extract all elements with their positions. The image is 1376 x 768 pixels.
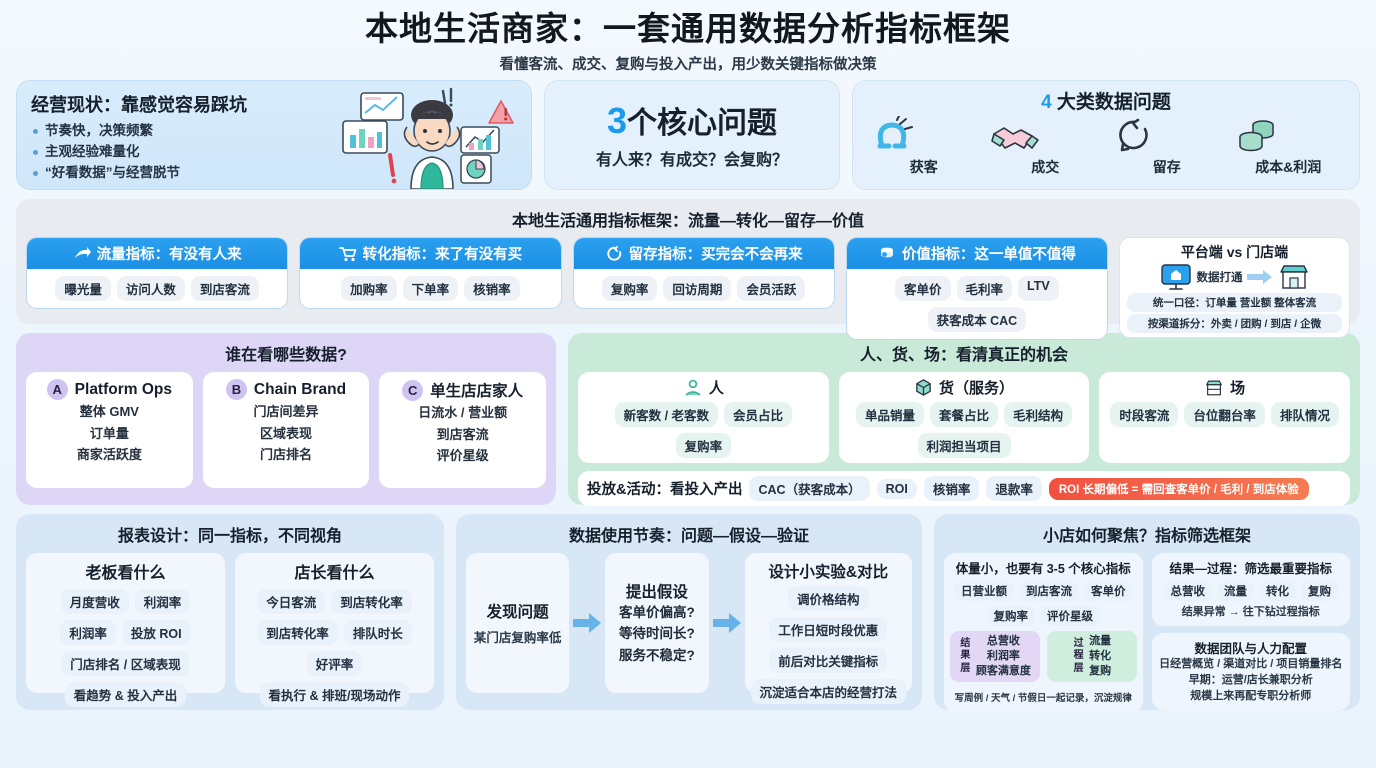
people-goods-place-title: 人、货、场：看清真正的机会	[578, 341, 1350, 365]
audience-metric: 评价星级	[383, 446, 542, 466]
metric-tag[interactable]: 利润担当项目	[918, 433, 1011, 458]
audience-metric: 区域表现	[207, 424, 366, 444]
layer-value: 流量	[1089, 634, 1111, 649]
metric-tag[interactable]: 复购率	[987, 606, 1036, 626]
layer-value: 顾客满意度	[976, 664, 1031, 679]
metric-tag[interactable]: 排队时长	[344, 620, 412, 645]
result-layer-box: 结果层 总营收 利润率 顾客满意度	[950, 631, 1040, 682]
focus-note: 写周例 / 天气 / 节假日一起记录，沉淀规律	[950, 687, 1137, 707]
layer-value: 利润率	[976, 649, 1031, 664]
audience-card-c: C 单生店店家人 日流水 / 营业额 到店客流 评价星级	[379, 372, 546, 488]
audience-name: Platform Ops	[75, 381, 172, 399]
audience-metric: 日流水 / 营业额	[383, 403, 542, 423]
metric-tag[interactable]: 核销率	[924, 476, 980, 501]
data-problems-number: 4	[1041, 92, 1052, 113]
framework-card-header: 转化指标：来了有没有买	[300, 238, 560, 269]
page-subtitle: 看懂客流、成交、复购与投入产出，用少数关键指标做决策	[16, 53, 1360, 74]
framework-card-header-text: 流量指标：有没有人来	[97, 243, 242, 264]
framework-card-header: 留存指标：买完会不会再来	[574, 238, 834, 269]
roi-alert-banner: ROI 长期偏低 = 需回查客单价 / 毛利 / 到店体验	[1049, 478, 1309, 500]
goods-card: 货（服务） 单品销量 套餐占比 毛利结构 利润担当项目	[839, 372, 1090, 463]
framework-card-header-text: 价值指标：这一单值不值得	[902, 243, 1076, 264]
rhythm-panel: 数据使用节奏：问题—假设—验证 发现问题 某门店复购率低 提出假设 客单价偏高?…	[456, 514, 922, 710]
metric-tag[interactable]: 毛利率	[957, 276, 1013, 301]
group-name: 货（服务）	[939, 377, 1014, 398]
metric-tag[interactable]: 下单率	[403, 276, 459, 301]
audience-card-b: B Chain Brand 门店间差异 区域表现 门店排名	[203, 372, 370, 488]
metric-tag[interactable]: CAC（获客成本）	[749, 476, 869, 501]
metric-tag[interactable]: 套餐占比	[930, 402, 998, 427]
core-questions-panel: 3个核心问题 有人来？有成交？会复购？	[544, 80, 840, 190]
result-layer-label: 结果层	[959, 638, 972, 676]
audience-metric: 订单量	[30, 424, 189, 444]
metric-tag[interactable]: 台位翻台率	[1184, 402, 1265, 427]
metric-tag[interactable]: 毛利结构	[1004, 402, 1072, 427]
rhythm-step-1: 发现问题 某门店复购率低	[466, 553, 569, 693]
audience-badge: A	[47, 379, 68, 400]
data-problem-item: 获客	[869, 116, 979, 177]
person-icon	[683, 379, 703, 397]
rhythm-title: 数据使用节奏：问题—假设—验证	[466, 522, 912, 546]
people-goods-place-panel: 人、货、场：看清真正的机会 人 新客数 / 老客数 会员占比 复购率	[568, 333, 1360, 505]
data-problem-label: 成交	[990, 157, 1100, 177]
platform-vs-store-title: 平台端 vs 门店端	[1127, 242, 1342, 262]
metric-tag[interactable]: 利润率	[60, 620, 116, 645]
people-card: 人 新客数 / 老客数 会员占比 复购率	[578, 372, 829, 463]
data-problem-label: 成本&利润	[1233, 157, 1343, 177]
metric-tag[interactable]: 到店客流	[1019, 581, 1079, 601]
audience-badge: C	[402, 380, 423, 401]
refresh-cycle-icon	[605, 246, 623, 262]
framework-panel: 本地生活通用指标框架：流量—转化—留存—价值 流量指标：有没有人来 曝光量 访问…	[16, 199, 1360, 324]
spend-row-label: 投放&活动：看投入产出	[587, 478, 742, 499]
status-panel: 经营现状：靠感觉容易踩坑 节奏快，决策频繁 主观经验难量化 “好看数据”与经营脱…	[16, 80, 532, 190]
metric-tag[interactable]: 会员活跃	[737, 276, 805, 301]
metric-tag[interactable]: 到店客流	[191, 276, 259, 301]
framework-card-header: 流量指标：有没有人来	[27, 238, 287, 269]
metric-tag[interactable]: 时段客流	[1110, 402, 1178, 427]
core-questions-title: 3个核心问题	[607, 101, 777, 141]
flow-arrow-icon	[713, 612, 741, 634]
framework-card-traffic: 流量指标：有没有人来 曝光量 访问人数 到店客流	[26, 237, 288, 309]
platform-vs-store-card: 平台端 vs 门店端 数据打通	[1119, 237, 1350, 338]
infographic-page: 本地生活商家：一套通用数据分析指标框架 看懂客流、成交、复购与投入产出，用少数关…	[0, 0, 1376, 768]
framework-card-header-text: 转化指标：来了有没有买	[363, 243, 523, 264]
metric-selection-note: 结果异常 → 往下钻过程指标	[1158, 605, 1345, 621]
framework-card-retention: 留存指标：买完会不会再来 复购率 回访周期 会员活跃	[573, 237, 835, 309]
channel-split-line: 按渠道拆分：外卖 / 团购 / 到店 / 企微	[1127, 314, 1342, 333]
rhythm-hypothesis: 客单价偏高?	[619, 602, 695, 624]
audience-metric: 到店客流	[383, 425, 542, 445]
focus-left-column: 体量小，也要有 3-5 个核心指标 日营业额 到店客流 客单价 复购率 评价星级…	[944, 553, 1143, 712]
storefront-icon	[1204, 378, 1224, 397]
metric-tag[interactable]: 到店转化率	[257, 620, 338, 645]
data-team-line: 规模上来再配专职分析师	[1158, 689, 1345, 705]
report-design-title: 报表设计：同一指标，不同视角	[26, 522, 434, 546]
manager-view-footer: 看执行 & 排班/现场动作	[260, 682, 410, 707]
core-questions-number: 3	[607, 100, 627, 141]
metric-tag[interactable]: 投放 ROI	[122, 620, 191, 645]
rhythm-step-name: 提出假设	[626, 580, 688, 602]
rhythm-hypothesis: 服务不稳定?	[619, 645, 695, 667]
stressed-merchant-illustration	[333, 85, 523, 189]
metric-tag[interactable]: 单品销量	[856, 402, 924, 427]
data-problems-title: 4 大类数据问题	[863, 87, 1349, 114]
metric-tag[interactable]: 利润率	[135, 589, 191, 614]
data-problems-title-rest: 大类数据问题	[1057, 92, 1171, 113]
data-problem-item: 成交	[990, 116, 1100, 177]
rhythm-step-2: 提出假设 客单价偏高? 等待时间长? 服务不稳定?	[605, 553, 708, 693]
metric-tag[interactable]: 到店转化率	[331, 589, 412, 614]
data-problem-label: 留存	[1112, 157, 1222, 177]
data-team-line: 早期：运营/店长兼职分析	[1158, 673, 1345, 689]
metric-tag[interactable]: 曝光量	[55, 276, 111, 301]
process-layer-label: 过程层	[1072, 638, 1085, 676]
layer-value: 总营收	[976, 634, 1031, 649]
coins-icon	[1233, 116, 1343, 156]
layer-value: 复购	[1089, 664, 1111, 679]
metric-tag[interactable]: 复购率	[602, 276, 658, 301]
framework-card-header-text: 留存指标：买完会不会再来	[629, 243, 803, 264]
core-metrics-heading: 体量小，也要有 3-5 个核心指标	[950, 558, 1137, 577]
metric-tag[interactable]: 门店排名 / 区域表现	[61, 651, 189, 676]
manager-view-card: 店长看什么 今日客流 到店转化率 到店转化率 排队时长 好评率 看执行 & 排班…	[235, 553, 434, 693]
place-card: 场 时段客流 台位翻台率 排队情况	[1099, 372, 1350, 463]
data-integration-label: 数据打通	[1197, 269, 1243, 285]
metric-tag[interactable]: 转化	[1259, 581, 1296, 601]
metric-tag[interactable]: 复购率	[676, 433, 732, 458]
metric-tag[interactable]: 客单价	[1084, 581, 1133, 601]
focus-panel: 小店如何聚焦？指标筛选框架 体量小，也要有 3-5 个核心指标 日营业额 到店客…	[934, 514, 1360, 710]
group-name: 人	[709, 377, 724, 398]
group-name: 场	[1230, 377, 1245, 398]
layer-value: 转化	[1089, 649, 1111, 664]
data-team-box: 数据团队与人力配置 日经营概览 / 渠道对比 / 项目销量排名 早期：运营/店长…	[1152, 633, 1351, 710]
core-metrics-box: 体量小，也要有 3-5 个核心指标 日营业额 到店客流 客单价 复购率 评价星级…	[944, 553, 1143, 712]
right-arrow-icon	[1247, 269, 1273, 285]
metric-tag[interactable]: 核销率	[464, 276, 520, 301]
rhythm-step-name: 发现问题	[487, 600, 549, 622]
audience-name: 单生店店家人	[430, 379, 523, 401]
metric-tag[interactable]: 好评率	[307, 651, 363, 676]
result-layer-values: 总营收 利润率 顾客满意度	[976, 634, 1031, 679]
refresh-cycle-icon	[1112, 116, 1222, 156]
metric-tag[interactable]: 退款率	[986, 476, 1042, 501]
core-questions-title-rest: 个核心问题	[627, 107, 777, 140]
coin-stack-icon	[878, 246, 896, 262]
metric-tag[interactable]: 会员占比	[724, 402, 792, 427]
experiment-tag[interactable]: 工作日短时段优惠	[769, 617, 887, 642]
spend-and-campaign-row: 投放&活动：看投入产出 CAC（获客成本） ROI 核销率 退款率 ROI 长期…	[578, 471, 1350, 506]
data-problem-label: 获客	[869, 157, 979, 177]
metric-tag[interactable]: 排队情况	[1271, 402, 1339, 427]
metric-tag[interactable]: 总营收	[1164, 581, 1213, 601]
report-design-panel: 报表设计：同一指标，不同视角 老板看什么 月度营收 利润率 利润率 投放 ROI…	[16, 514, 444, 710]
framework-card-value: 价值指标：这一单值不值得 客单价 毛利率 LTV 获客成本 CAC	[846, 237, 1108, 340]
box-icon	[914, 378, 933, 397]
who-watches-panel: 谁在看哪些数据? A Platform Ops 整体 GMV 订单量 商家活跃度…	[16, 333, 556, 505]
framework-title: 本地生活通用指标框架：流量—转化—留存—价值	[26, 207, 1350, 231]
data-team-line: 日经营概览 / 渠道对比 / 项目销量排名	[1158, 657, 1345, 673]
audience-badge: B	[226, 379, 247, 400]
rhythm-step-detail: 某门店复购率低	[474, 627, 562, 646]
focus-title: 小店如何聚焦？指标筛选框架	[944, 522, 1350, 546]
metric-selection-heading: 结果—过程：筛选最重要指标	[1158, 558, 1345, 577]
page-title: 本地生活商家：一套通用数据分析指标框架	[16, 8, 1360, 49]
metric-tag[interactable]: 今日客流	[257, 589, 325, 614]
metric-tag[interactable]: 客单价	[895, 276, 951, 301]
focus-right-column: 结果—过程：筛选最重要指标 总营收 流量 转化 复购 结果异常 → 往下钻过程指…	[1152, 553, 1351, 712]
middle-band: 谁在看哪些数据? A Platform Ops 整体 GMV 订单量 商家活跃度…	[16, 333, 1360, 505]
magnet-icon	[869, 116, 979, 156]
metric-tag[interactable]: 访问人数	[117, 276, 185, 301]
metric-tag[interactable]: 回访周期	[663, 276, 731, 301]
rhythm-hypothesis: 等待时间长?	[619, 623, 695, 645]
experiment-tag[interactable]: 调价格结构	[788, 586, 869, 611]
framework-card-header: 价值指标：这一单值不值得	[847, 238, 1107, 269]
manager-view-title: 店长看什么	[241, 559, 428, 583]
audience-metric: 整体 GMV	[30, 402, 189, 422]
bottom-band: 报表设计：同一指标，不同视角 老板看什么 月度营收 利润率 利润率 投放 ROI…	[16, 514, 1360, 710]
metric-tag[interactable]: 流量	[1217, 581, 1254, 601]
data-problem-item: 留存	[1112, 116, 1222, 177]
audience-metric: 门店排名	[207, 445, 366, 465]
framework-card-conversion: 转化指标：来了有没有买 加购率 下单率 核销率	[299, 237, 561, 309]
metric-tag[interactable]: LTV	[1018, 276, 1059, 301]
unified-caliber-line: 统一口径：订单量 营业额 整体客流	[1127, 293, 1342, 312]
audience-metric: 门店间差异	[207, 402, 366, 422]
boss-view-title: 老板看什么	[32, 559, 219, 583]
process-layer-box: 过程层 流量 转化 复购	[1047, 631, 1137, 682]
rhythm-step-name: 设计小实验&对比	[768, 560, 888, 582]
metric-tag[interactable]: 月度营收	[61, 589, 129, 614]
audience-name: Chain Brand	[254, 381, 346, 399]
boss-view-card: 老板看什么 月度营收 利润率 利润率 投放 ROI 门店排名 / 区域表现 看趋…	[26, 553, 225, 693]
experiment-tag[interactable]: 前后对比关键指标	[769, 648, 887, 673]
page-header: 本地生活商家：一套通用数据分析指标框架 看懂客流、成交、复购与投入产出，用少数关…	[16, 8, 1360, 74]
who-watches-title: 谁在看哪些数据?	[26, 341, 546, 365]
audience-metric: 商家活跃度	[30, 445, 189, 465]
metric-tag[interactable]: 日营业额	[954, 581, 1014, 601]
metric-tag[interactable]: 新客数 / 老客数	[615, 402, 718, 427]
boss-view-footer: 看趋势 & 投入产出	[65, 682, 186, 707]
experiment-tag[interactable]: 沉淀适合本店的经营打法	[751, 679, 907, 704]
data-team-heading: 数据团队与人力配置	[1158, 638, 1345, 657]
top-band: 经营现状：靠感觉容易踩坑 节奏快，决策频繁 主观经验难量化 “好看数据”与经营脱…	[16, 80, 1360, 190]
audience-card-a: A Platform Ops 整体 GMV 订单量 商家活跃度	[26, 372, 193, 488]
metric-tag[interactable]: 获客成本 CAC	[928, 307, 1027, 332]
handshake-icon	[990, 116, 1100, 156]
metric-tag[interactable]: 复购	[1301, 581, 1338, 601]
metric-selection-box: 结果—过程：筛选最重要指标 总营收 流量 转化 复购 结果异常 → 往下钻过程指…	[1152, 553, 1351, 626]
data-problem-item: 成本&利润	[1233, 116, 1343, 177]
metric-tag[interactable]: 评价星级	[1040, 606, 1100, 626]
cart-icon	[339, 246, 357, 262]
rhythm-step-3: 设计小实验&对比 调价格结构 工作日短时段优惠 前后对比关键指标 沉淀适合本店的…	[745, 553, 913, 693]
monitor-icon	[1159, 263, 1193, 291]
data-problems-panel: 4 大类数据问题 获客	[852, 80, 1360, 190]
flow-arrow-icon	[573, 612, 601, 634]
process-layer-values: 流量 转化 复购	[1089, 634, 1111, 679]
storefront-icon	[1277, 263, 1311, 291]
share-arrow-icon	[73, 246, 91, 262]
core-questions-subtitle: 有人来？有成交？会复购？	[596, 146, 788, 170]
metric-tag[interactable]: ROI	[877, 479, 917, 499]
metric-tag[interactable]: 加购率	[341, 276, 397, 301]
